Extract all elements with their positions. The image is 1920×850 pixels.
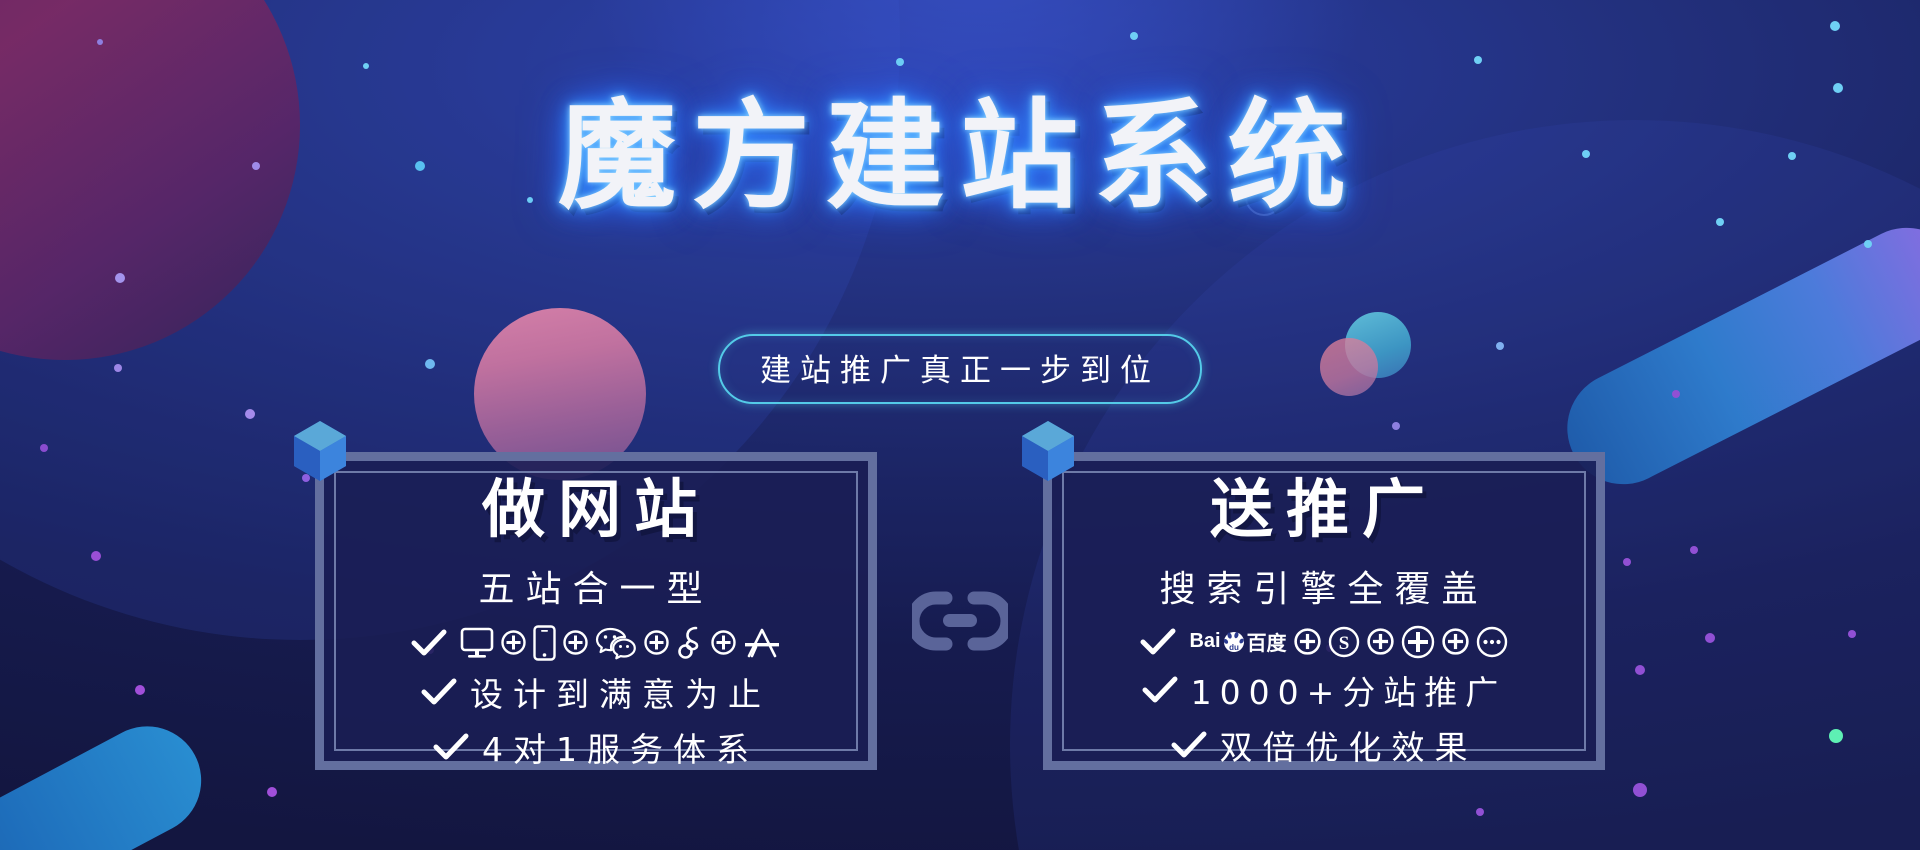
app-store-icon (743, 626, 781, 660)
check-icon (433, 732, 469, 762)
baidu-label-du: du (1229, 643, 1239, 652)
subtitle-pill: 建站推广真正一步到位 (718, 334, 1202, 404)
star-dot (1633, 783, 1647, 797)
star-dot (1130, 32, 1138, 40)
baidu-logo-icon: Bai du 百度 (1189, 627, 1286, 656)
star-dot (245, 409, 255, 419)
baidu-paw-icon: du (1223, 631, 1245, 653)
star-dot (1476, 808, 1484, 816)
card-free-promotion[interactable]: 送推广 搜索引擎全覆盖 Bai (1043, 452, 1605, 770)
star-dot (97, 39, 103, 45)
check-icon (411, 628, 447, 658)
star-dot (40, 444, 48, 452)
baidu-label-bai: Bai (1189, 630, 1220, 653)
subtitle-pill-wrap: 建站推广真正一步到位 (0, 334, 1920, 404)
card-title: 做网站 (482, 475, 710, 546)
threesixty-icon (1401, 625, 1435, 659)
card-bullet-label: 1000+分站推广 (1191, 666, 1507, 714)
plus-icon (644, 630, 669, 655)
sogou-icon: S (1328, 626, 1360, 658)
search-engine-icons: Bai du 百度 (1189, 625, 1507, 659)
card-bullet: 4对1服务体系 (433, 723, 759, 771)
check-icon (1140, 627, 1176, 657)
card-bullet-label: 双倍优化效果 (1220, 721, 1478, 769)
more-ellipsis-icon (1476, 626, 1508, 658)
mobile-phone-icon (533, 625, 556, 661)
star-dot (1864, 240, 1872, 248)
star-dot (896, 58, 904, 66)
baidu-label-cn: 百度 (1247, 627, 1287, 656)
chain-link-icon (912, 586, 1008, 656)
star-dot (1474, 56, 1482, 64)
monitor-icon (460, 627, 494, 659)
star-dot (1392, 422, 1400, 430)
plus-icon (1294, 628, 1321, 655)
card-title: 送推广 (1210, 475, 1438, 546)
plus-icon (563, 630, 588, 655)
plus-icon (711, 630, 736, 655)
card-bullet: 双倍优化效果 (1171, 721, 1478, 769)
promo-banner: 魔方建站系统 建站推广真正一步到位 做网站 五站合一型 (0, 0, 1920, 850)
card-icon-row (411, 625, 781, 661)
wechat-icon (595, 626, 637, 660)
card-icon-row: Bai du 百度 (1140, 625, 1507, 659)
plus-icon (501, 630, 526, 655)
card-body: 送推广 搜索引擎全覆盖 Bai (1052, 461, 1596, 761)
check-icon (1142, 675, 1178, 705)
card-bullet-label: 设计到满意为止 (470, 668, 771, 716)
page-title: 魔方建站系统 (0, 90, 1920, 222)
check-icon (421, 677, 457, 707)
sogou-letter: S (1338, 633, 1349, 654)
card-bullet: 设计到满意为止 (421, 668, 771, 716)
check-icon (1171, 730, 1207, 760)
card-body: 做网站 五站合一型 (324, 461, 868, 761)
card-subtitle: 五站合一型 (478, 560, 713, 612)
card-subtitle: 搜索引擎全覆盖 (1159, 560, 1488, 612)
music-note-icon (676, 625, 704, 661)
star-dot (267, 787, 277, 797)
star-dot (363, 63, 369, 69)
card-bullet-label: 4对1服务体系 (482, 723, 759, 771)
star-dot (1830, 21, 1840, 31)
star-dot (115, 273, 125, 283)
card-make-website[interactable]: 做网站 五站合一型 (315, 452, 877, 770)
card-bullet: 1000+分站推广 (1142, 666, 1507, 714)
plus-icon (1367, 628, 1394, 655)
plus-icon (1442, 628, 1469, 655)
platform-icons (460, 625, 781, 661)
